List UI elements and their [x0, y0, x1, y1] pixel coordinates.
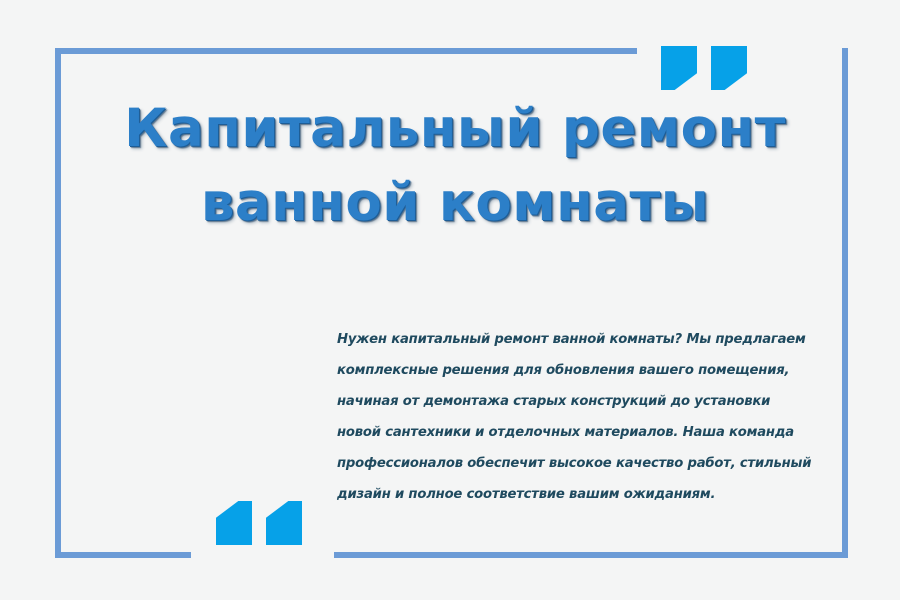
frame-border-bottom-left — [55, 552, 191, 558]
title-line-2: ванной комнаты — [60, 166, 850, 240]
slide-title: Капитальный ремонт ванной комнаты — [60, 92, 850, 240]
quote-open-mark-2 — [266, 501, 302, 545]
title-line-1: Капитальный ремонт — [60, 92, 850, 166]
quote-close-icon — [661, 46, 747, 90]
slide-canvas: Капитальный ремонт ванной комнаты Нужен … — [0, 0, 900, 600]
body-paragraph: Нужен капитальный ремонт ванной комнаты?… — [337, 324, 815, 510]
frame-border-bottom-right — [334, 552, 848, 558]
frame-border-top — [55, 48, 637, 54]
slide-body: Нужен капитальный ремонт ванной комнаты?… — [337, 324, 815, 510]
quote-open-mark-1 — [216, 501, 252, 545]
quote-close-mark-2 — [711, 46, 747, 90]
quote-close-mark-1 — [661, 46, 697, 90]
quote-open-icon — [216, 501, 302, 545]
